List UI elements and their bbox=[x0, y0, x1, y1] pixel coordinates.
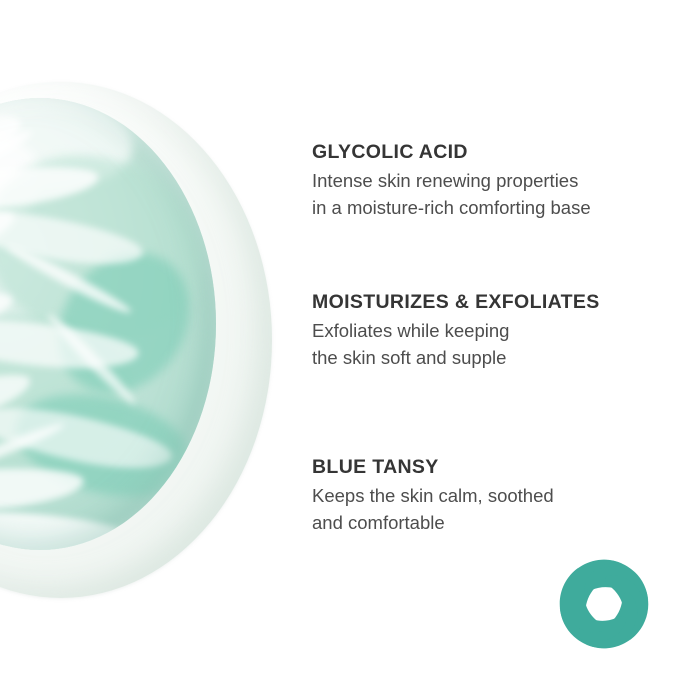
feature-description-line: the skin soft and supple bbox=[312, 345, 652, 371]
feature-description: Intense skin renewing properties in a mo… bbox=[312, 168, 652, 221]
marketing-image-canvas: GLYCOLIC ACID Intense skin renewing prop… bbox=[0, 0, 679, 679]
feature-description-line: Exfoliates while keeping bbox=[312, 318, 652, 344]
feature-description: Exfoliates while keeping the skin soft a… bbox=[312, 318, 652, 371]
product-jar bbox=[0, 82, 272, 598]
feature-title: BLUE TANSY bbox=[312, 455, 652, 479]
brand-swirl-logo-icon bbox=[556, 556, 652, 652]
feature-description-line: in a moisture-rich comforting base bbox=[312, 195, 652, 221]
feature-block-glycolic-acid: GLYCOLIC ACID Intense skin renewing prop… bbox=[312, 140, 652, 221]
feature-block-moisturizes-exfoliates: MOISTURIZES & EXFOLIATES Exfoliates whil… bbox=[312, 290, 652, 371]
feature-description: Keeps the skin calm, soothed and comfort… bbox=[312, 483, 652, 536]
feature-description-line: Intense skin renewing properties bbox=[312, 168, 652, 194]
feature-title: GLYCOLIC ACID bbox=[312, 140, 652, 164]
feature-block-blue-tansy: BLUE TANSY Keeps the skin calm, soothed … bbox=[312, 455, 652, 536]
feature-title: MOISTURIZES & EXFOLIATES bbox=[312, 290, 652, 314]
feature-description-line: and comfortable bbox=[312, 510, 652, 536]
feature-description-line: Keeps the skin calm, soothed bbox=[312, 483, 652, 509]
